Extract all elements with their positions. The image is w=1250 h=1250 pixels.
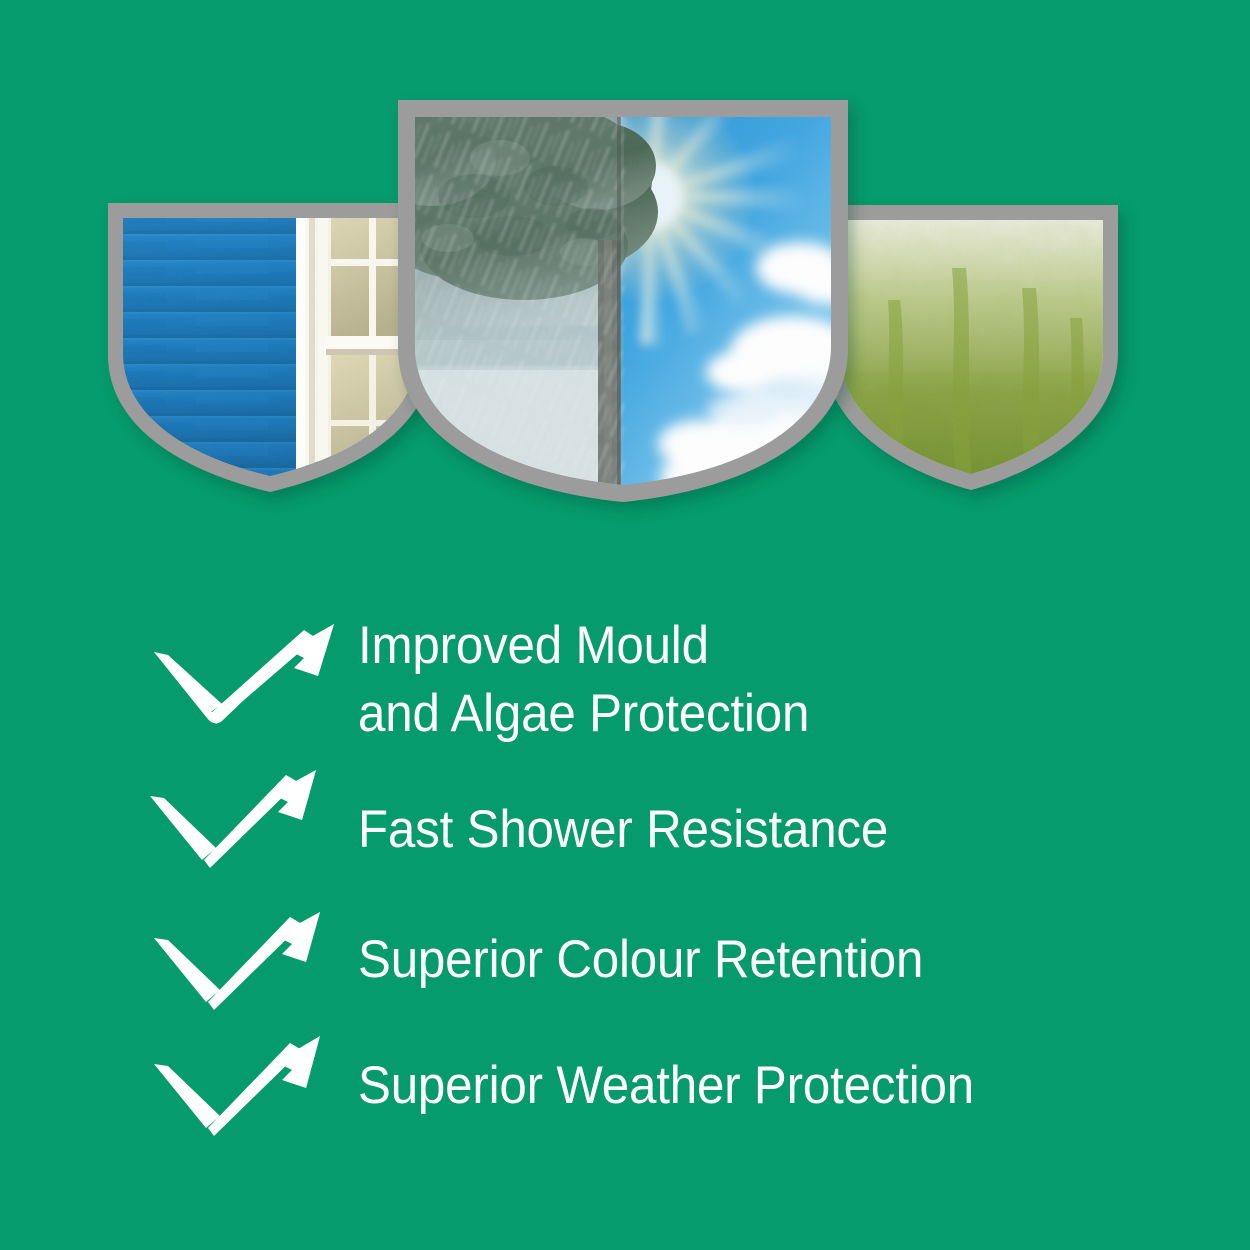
shield-right — [824, 205, 1124, 495]
benefit-label: Superior Weather Protection — [358, 1052, 974, 1120]
benefit-label: Fast Shower Resistance — [358, 796, 888, 864]
check-arrow-icon — [148, 768, 320, 870]
shield-center — [368, 84, 892, 514]
check-arrow-icon — [152, 1034, 324, 1138]
shield-group — [0, 0, 1250, 560]
product-benefits-poster: Improved Mould and Algae Protection Fast… — [0, 0, 1250, 1250]
check-arrow-icon — [152, 622, 338, 730]
benefit-label: Superior Colour Retention — [358, 926, 923, 994]
shield-left — [108, 203, 438, 498]
benefit-label: Improved Mould and Algae Protection — [358, 612, 809, 748]
check-arrow-icon — [152, 910, 324, 1012]
benefits-list: Improved Mould and Algae Protection Fast… — [0, 600, 1250, 1180]
